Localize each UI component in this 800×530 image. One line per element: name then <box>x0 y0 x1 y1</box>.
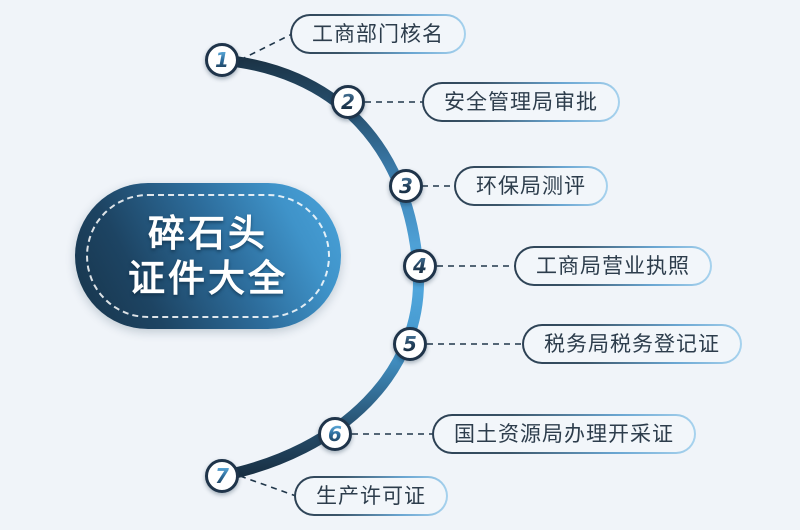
step-marker-4[interactable]: 4 <box>403 249 437 283</box>
step-number-3: 3 <box>399 176 413 196</box>
step-number-4: 4 <box>413 256 427 276</box>
connector-7 <box>240 476 296 496</box>
step-number-7: 7 <box>215 466 229 486</box>
step-number-2: 2 <box>341 92 355 112</box>
step-number-6: 6 <box>328 424 342 444</box>
step-label-2[interactable]: 安全管理局审批 <box>422 82 620 122</box>
step-marker-6[interactable]: 6 <box>318 417 352 451</box>
connector-1 <box>240 34 292 60</box>
step-label-7[interactable]: 生产许可证 <box>294 476 448 516</box>
step-number-5: 5 <box>403 334 417 354</box>
badge-title-line-2: 证件大全 <box>128 258 288 299</box>
badge-title-line-1: 碎石头 <box>148 213 268 254</box>
badge-text-block: 碎石头 证件大全 <box>75 183 341 329</box>
step-marker-7[interactable]: 7 <box>205 459 239 493</box>
step-label-3-text: 环保局测评 <box>476 176 586 197</box>
step-marker-1[interactable]: 1 <box>205 43 239 77</box>
step-marker-3[interactable]: 3 <box>389 169 423 203</box>
step-label-5[interactable]: 税务局税务登记证 <box>522 324 742 364</box>
step-label-1-text: 工商部门核名 <box>312 24 444 45</box>
step-marker-5[interactable]: 5 <box>393 327 427 361</box>
step-label-7-text: 生产许可证 <box>316 486 426 507</box>
center-title-badge: 碎石头 证件大全 <box>75 183 341 329</box>
step-number-1: 1 <box>215 50 229 70</box>
step-label-4-text: 工商局营业执照 <box>536 256 690 277</box>
step-label-2-text: 安全管理局审批 <box>444 92 598 113</box>
step-label-6[interactable]: 国土资源局办理开采证 <box>432 414 696 454</box>
step-label-4[interactable]: 工商局营业执照 <box>514 246 712 286</box>
step-marker-2[interactable]: 2 <box>331 85 365 119</box>
step-label-1[interactable]: 工商部门核名 <box>290 14 466 54</box>
step-label-6-text: 国土资源局办理开采证 <box>454 424 674 445</box>
step-label-5-text: 税务局税务登记证 <box>544 334 720 355</box>
infographic-canvas: 碎石头 证件大全 1 2 3 4 5 6 7 工商部门核名 安全管理局审批 环保… <box>0 0 800 530</box>
step-label-3[interactable]: 环保局测评 <box>454 166 608 206</box>
